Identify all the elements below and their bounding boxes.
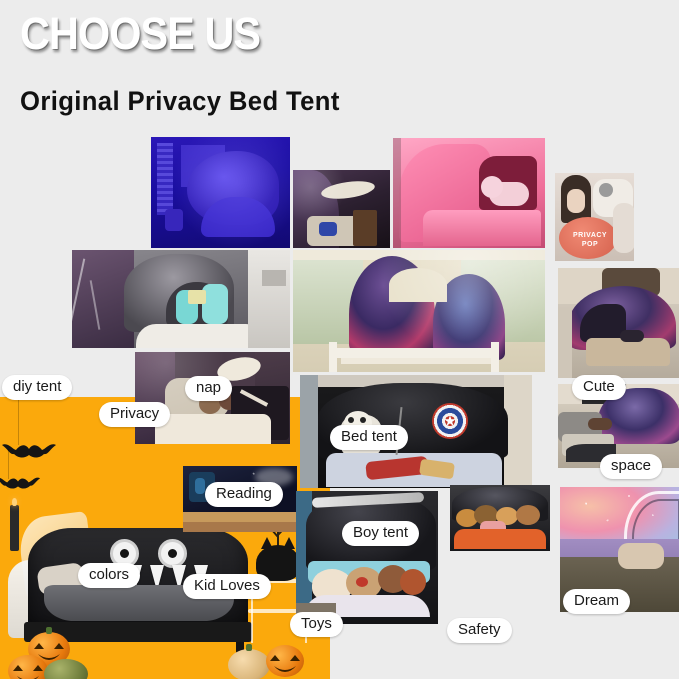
callout-nap: nap	[185, 376, 232, 401]
callout-diy-tent: diy tent	[2, 375, 72, 400]
photo-girl-privacy-pop: PRIVACYPOP	[555, 173, 634, 261]
pumpkin-decor	[8, 655, 48, 679]
photo-safety-toy-tent	[450, 485, 550, 551]
pumpkin-decor	[44, 659, 88, 679]
pumpkin-decor	[266, 645, 304, 677]
callout-cute: Cute	[572, 375, 626, 400]
callout-colors: colors	[78, 563, 140, 588]
callout-safety: Safety	[447, 618, 512, 643]
callout-reading: Reading	[205, 482, 283, 507]
pumpkin-decor	[228, 649, 270, 679]
callout-space: space	[600, 454, 662, 479]
photo-pink-tent-bed	[393, 138, 545, 248]
bat-thread	[18, 397, 19, 445]
candle-decor	[10, 505, 19, 551]
callout-toys: Toys	[290, 612, 343, 637]
callout-kid-loves: Kid Loves	[183, 574, 271, 599]
page-title: CHOOSE US	[20, 8, 260, 60]
callout-boy-tent: Boy tent	[342, 521, 419, 546]
callout-bed-tent: Bed tent	[330, 425, 408, 450]
photo-kids-reading-tent	[72, 250, 290, 348]
infographic-canvas: CHOOSE US Original Privacy Bed Tent	[0, 0, 679, 679]
monster-eye-icon	[158, 539, 187, 568]
callout-privacy: Privacy	[99, 402, 170, 427]
photo-galaxy-room-tent	[293, 170, 390, 248]
photo-boy-plush-tent	[296, 491, 438, 624]
photo-cute-galaxy-tent	[558, 268, 679, 378]
page-subtitle: Original Privacy Bed Tent	[20, 85, 340, 117]
photo-galaxy-twin-tents	[293, 250, 545, 372]
photo-blue-glow-tent	[151, 137, 290, 248]
callout-dream: Dream	[563, 589, 630, 614]
